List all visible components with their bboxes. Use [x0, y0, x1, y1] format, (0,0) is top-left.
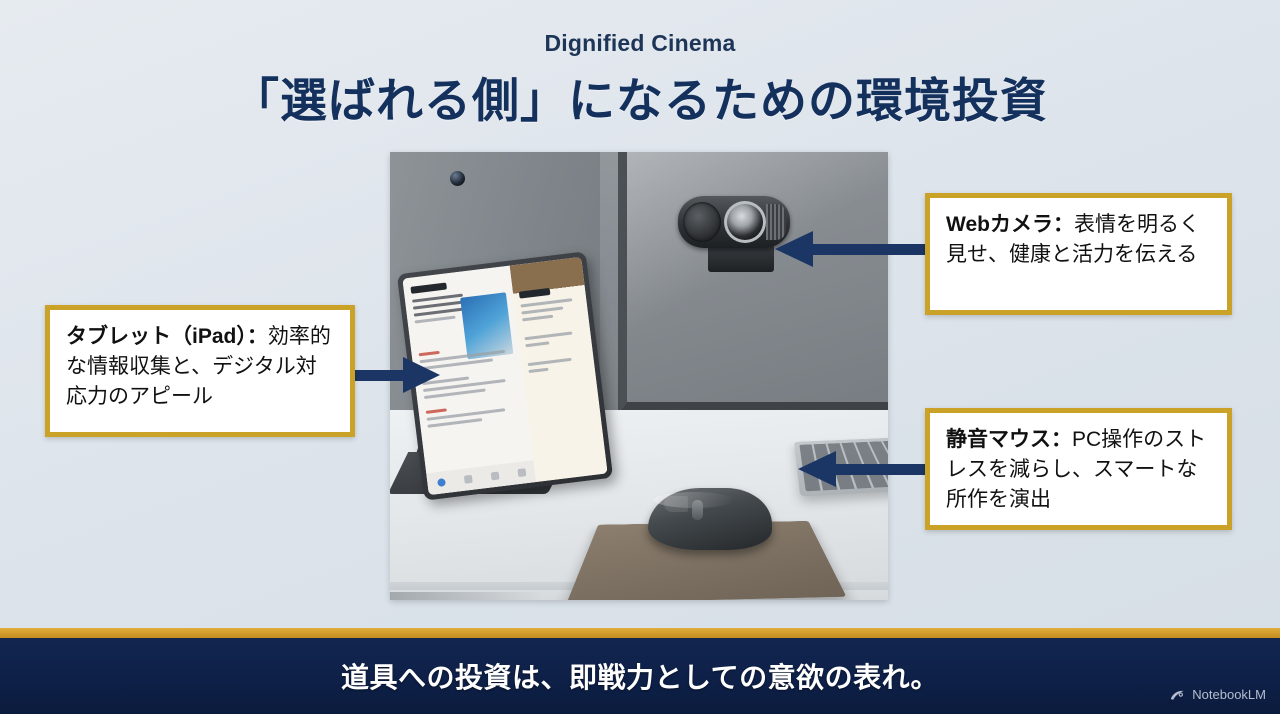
arrow-shaft [835, 464, 925, 475]
arrow-shaft [813, 244, 925, 255]
tablet-news-title [410, 283, 446, 294]
tab-bar-dot [437, 478, 446, 487]
mouse-icon [648, 488, 772, 550]
monitor-icon [618, 152, 888, 414]
arrow-head [403, 357, 440, 393]
footer-message: 道具への投資は、即戦力としての意欲の表れ。 [341, 656, 939, 696]
slide-eyebrow: Dignified Cinema [0, 30, 1280, 57]
tab-bar-dot [463, 475, 472, 484]
desk-shadow [390, 592, 570, 600]
slide-root: Dignified Cinema 「選ばれる側」になるための環境投資 [0, 0, 1280, 714]
webcam-lens [450, 171, 465, 186]
webcam-icon [678, 196, 790, 248]
tablet-text-line [521, 306, 563, 314]
callout-webcam: Webカメラ：表情を明るく見せ、健康と活力を伝える [925, 193, 1232, 315]
callout-tablet-heading: タブレット（iPad）： [66, 325, 268, 348]
tab-bar-dot [517, 468, 526, 477]
page-title: 「選ばれる側」になるための環境投資 [0, 62, 1280, 131]
callout-mouse-heading: 静音マウス： [946, 428, 1072, 451]
footer-banner: 道具への投資は、即戦力としての意欲の表れ。 NotebookLM [0, 638, 1280, 714]
tablet-text-line [522, 315, 553, 322]
tablet-text-line [520, 298, 572, 307]
tablet-text-line [528, 368, 549, 373]
tablet-text-line [525, 341, 549, 347]
callout-webcam-heading: Webカメラ： [946, 213, 1074, 236]
arrow-head [775, 231, 813, 267]
tablet-article-thumbnail [460, 292, 513, 359]
desk-setup-photo [390, 152, 888, 600]
gold-divider [0, 628, 1280, 638]
webcam-microphone-mesh [683, 202, 721, 242]
mouse-scroll-wheel [692, 500, 703, 520]
webcam-clip [708, 244, 774, 272]
mouse-left-button [664, 496, 688, 512]
notebooklm-watermark: NotebookLM [1170, 687, 1266, 702]
notebooklm-label: NotebookLM [1192, 687, 1266, 702]
notebooklm-spark-icon [1170, 688, 1186, 702]
tab-bar-dot [490, 472, 499, 481]
callout-tablet: タブレット（iPad）：効率的な情報収集と、デジタル対応力のアピール [45, 305, 355, 437]
monitor-screen [627, 152, 888, 402]
callout-mouse: 静音マウス：PC操作のストレスを減らし、スマートな所作を演出 [925, 408, 1232, 530]
arrow-head [798, 451, 836, 487]
webcam-lens-ring [724, 201, 766, 243]
